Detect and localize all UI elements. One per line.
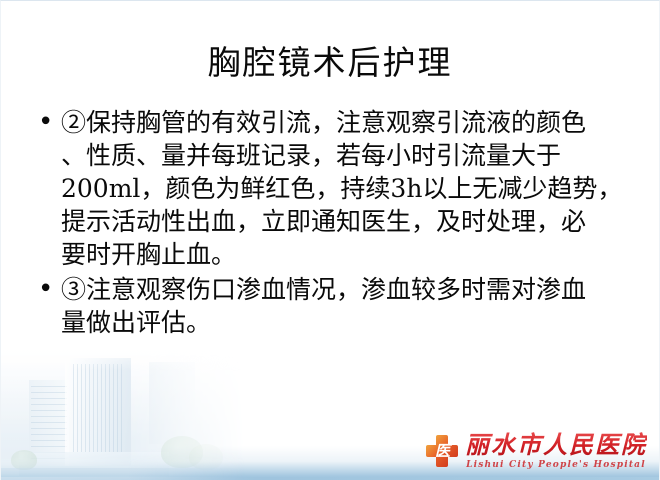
photo-tree xyxy=(11,450,37,470)
photo-main-tower-glass xyxy=(73,364,125,452)
medical-cross-icon: 医 xyxy=(425,434,459,468)
slide-canvas: 胸腔镜术后护理 • ②保持胸管的有效引流，注意观察引流液的颜色 、性质、量并每班… xyxy=(0,0,660,480)
logo-text-block: 丽水市人民医院 Lishui City People's Hospital xyxy=(465,432,647,471)
logo-name-chinese: 丽水市人民医院 xyxy=(465,432,647,458)
hospital-logo: 医 丽水市人民医院 Lishui City People's Hospital xyxy=(425,428,647,474)
list-item: • ②保持胸管的有效引流，注意观察引流液的颜色 、性质、量并每班记录，若每小时引… xyxy=(31,106,643,271)
logo-name-english: Lishui City People's Hospital xyxy=(465,459,647,471)
list-item-text: ③注意观察伤口渗血情况，渗血较多时需对渗血 量做出评估。 xyxy=(61,273,643,339)
text-line: 要时开胸止血。 xyxy=(61,238,643,271)
list-item: • ③注意观察伤口渗血情况，渗血较多时需对渗血 量做出评估。 xyxy=(31,273,643,339)
text-line: 量做出评估。 xyxy=(61,306,643,339)
text-line: 200ml，颜色为鲜红色，持续3h以上无减少趋势， xyxy=(61,172,643,205)
slide-body: • ②保持胸管的有效引流，注意观察引流液的颜色 、性质、量并每班记录，若每小时引… xyxy=(31,106,643,341)
hospital-building-photo xyxy=(1,340,245,480)
photo-tree xyxy=(189,444,223,470)
photo-background-tower xyxy=(149,362,195,444)
cross-inner-mark: 医 xyxy=(435,443,450,459)
photo-left-wing-floors xyxy=(31,386,67,460)
text-line: ③注意观察伤口渗血情况，渗血较多时需对渗血 xyxy=(61,273,643,306)
text-line: ②保持胸管的有效引流，注意观察引流液的颜色 xyxy=(61,106,643,139)
page-title: 胸腔镜术后护理 xyxy=(1,41,659,85)
text-line: 提示活动性出血，立即通知医生，及时处理，必 xyxy=(61,205,643,238)
list-item-text: ②保持胸管的有效引流，注意观察引流液的颜色 、性质、量并每班记录，若每小时引流量… xyxy=(61,106,643,271)
text-line: 、性质、量并每班记录，若每小时引流量大于 xyxy=(61,139,643,172)
bullet-marker-icon: • xyxy=(31,106,61,139)
photo-inner xyxy=(1,340,245,480)
bullet-marker-icon: • xyxy=(31,273,61,306)
photo-foreground-road xyxy=(1,468,245,480)
